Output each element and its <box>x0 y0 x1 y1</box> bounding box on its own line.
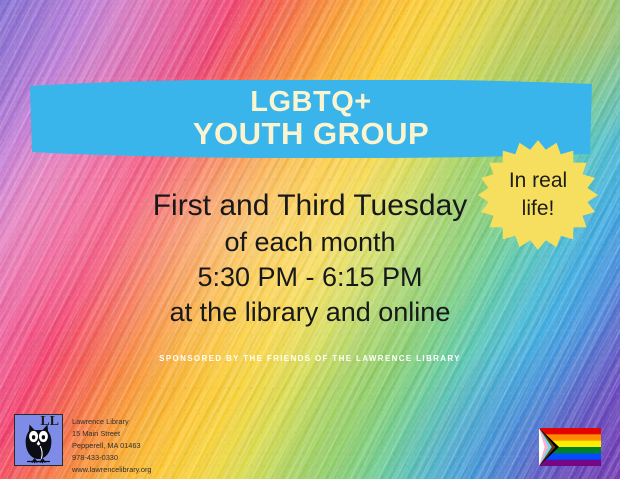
sponsor-line: SPONSORED BY THE FRIENDS OF THE LAWRENCE… <box>0 354 620 363</box>
address-city-state-zip: Pepperell, MA 01463 <box>72 440 152 452</box>
title-line-2: YOUTH GROUP <box>193 118 429 150</box>
event-details: First and Third Tuesday of each month 5:… <box>0 186 620 330</box>
address-street: 15 Main Street <box>72 428 152 440</box>
title-line-1: LGBTQ+ <box>250 88 371 118</box>
address-website[interactable]: www.lawrencelibrary.org <box>72 464 152 476</box>
logo-initials: LL <box>40 415 59 429</box>
footer-block: LL Lawrence Library 15 Main Street Peppe… <box>14 414 152 476</box>
library-address: Lawrence Library 15 Main Street Pepperel… <box>72 414 152 476</box>
address-phone: 978-433-0330 <box>72 452 152 464</box>
address-name: Lawrence Library <box>72 416 152 428</box>
lawrence-library-logo: LL <box>14 414 63 466</box>
detail-line-2: of each month <box>0 225 620 260</box>
detail-line-4: at the library and online <box>0 295 620 330</box>
lgbtq-youth-group-poster: LGBTQ+ YOUTH GROUP In real life! First a… <box>0 0 620 479</box>
detail-line-3: 5:30 PM - 6:15 PM <box>0 260 620 295</box>
progress-pride-flag <box>539 428 601 466</box>
detail-line-1: First and Third Tuesday <box>0 186 620 225</box>
pride-flag-icon <box>539 428 601 466</box>
